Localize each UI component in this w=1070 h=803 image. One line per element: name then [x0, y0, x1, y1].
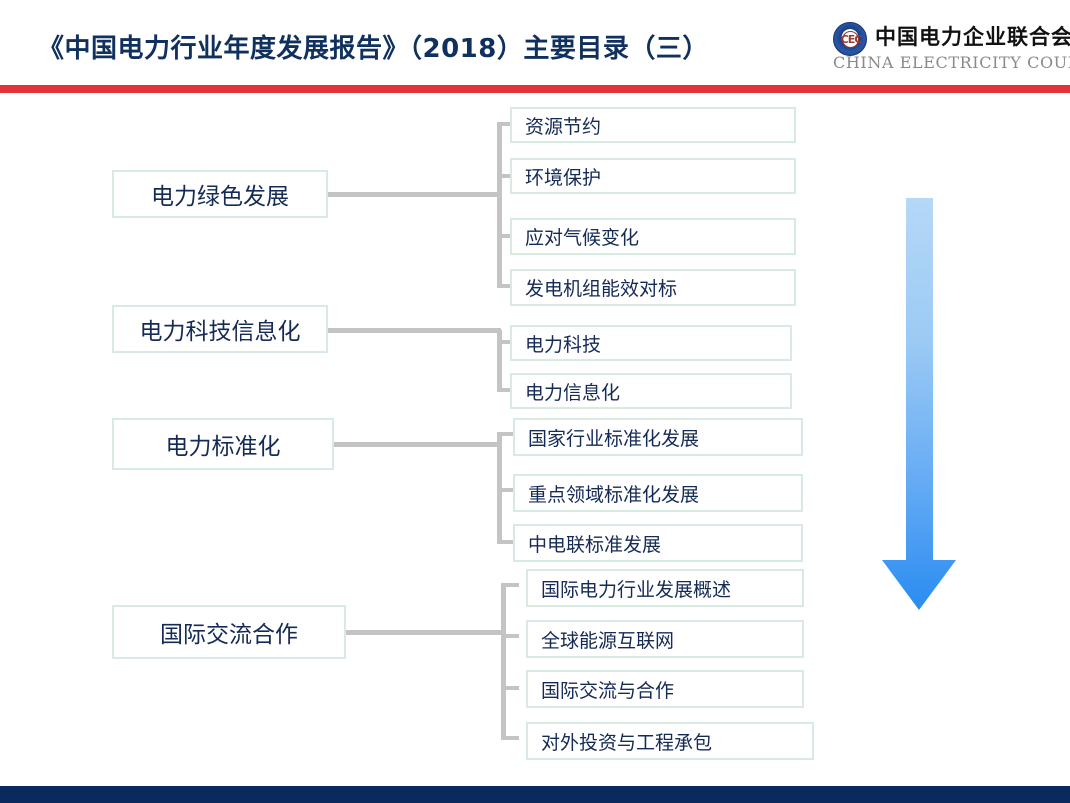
- child-node-1-2[interactable]: 环境保护: [510, 158, 796, 194]
- connector-h-group-2: [328, 328, 501, 333]
- child-node-1-1[interactable]: 资源节约: [510, 107, 796, 143]
- connector-h-group-1: [328, 192, 501, 197]
- footer-bar: [0, 786, 1070, 803]
- header-divider: [0, 85, 1070, 93]
- connector-v-group-4: [501, 585, 506, 740]
- org-name-en: CHINA ELECTRICITY COUNCIL: [833, 53, 1070, 72]
- parent-node-1[interactable]: 电力绿色发展: [112, 170, 328, 218]
- child-node-3-1[interactable]: 国家行业标准化发展: [513, 418, 803, 456]
- parent-node-4[interactable]: 国际交流合作: [112, 605, 346, 659]
- cec-emblem-letters: CEC: [834, 23, 868, 57]
- parent-node-2[interactable]: 电力科技信息化: [112, 305, 328, 353]
- child-node-4-3[interactable]: 国际交流与合作: [526, 670, 804, 708]
- connector-stub-4-2: [501, 634, 519, 638]
- slide-header: 《中国电力行业年度发展报告》（2018）主要目录（三） CEC 中国电力企业联合…: [0, 0, 1070, 85]
- child-node-2-2[interactable]: 电力信息化: [510, 373, 792, 409]
- child-node-4-4[interactable]: 对外投资与工程承包: [526, 722, 814, 760]
- down-arrow-icon: [868, 196, 968, 612]
- connector-stub-4-4: [501, 736, 519, 740]
- connector-v-group-1: [497, 124, 502, 286]
- child-node-4-2[interactable]: 全球能源互联网: [526, 620, 804, 658]
- org-name-cn: 中国电力企业联合会: [875, 21, 1070, 51]
- connector-h-group-4: [346, 630, 505, 635]
- connector-stub-4-3: [501, 686, 519, 690]
- child-node-3-2[interactable]: 重点领域标准化发展: [513, 474, 803, 512]
- organization-logo: CEC 中国电力企业联合会 CHINA ELECTRICITY COUNCIL: [833, 20, 1065, 78]
- child-node-1-4[interactable]: 发电机组能效对标: [510, 269, 796, 306]
- child-node-3-3[interactable]: 中电联标准发展: [513, 524, 803, 562]
- child-node-1-3[interactable]: 应对气候变化: [510, 218, 796, 255]
- child-node-2-1[interactable]: 电力科技: [510, 325, 792, 361]
- connector-stub-4-1: [501, 583, 519, 587]
- slide-canvas: 《中国电力行业年度发展报告》（2018）主要目录（三） CEC 中国电力企业联合…: [0, 0, 1070, 803]
- cec-emblem-icon: CEC: [833, 22, 867, 56]
- page-title: 《中国电力行业年度发展报告》（2018）主要目录（三）: [38, 28, 709, 65]
- connector-h-group-3: [334, 442, 501, 447]
- parent-node-3[interactable]: 电力标准化: [112, 418, 334, 470]
- child-node-4-1[interactable]: 国际电力行业发展概述: [526, 569, 804, 607]
